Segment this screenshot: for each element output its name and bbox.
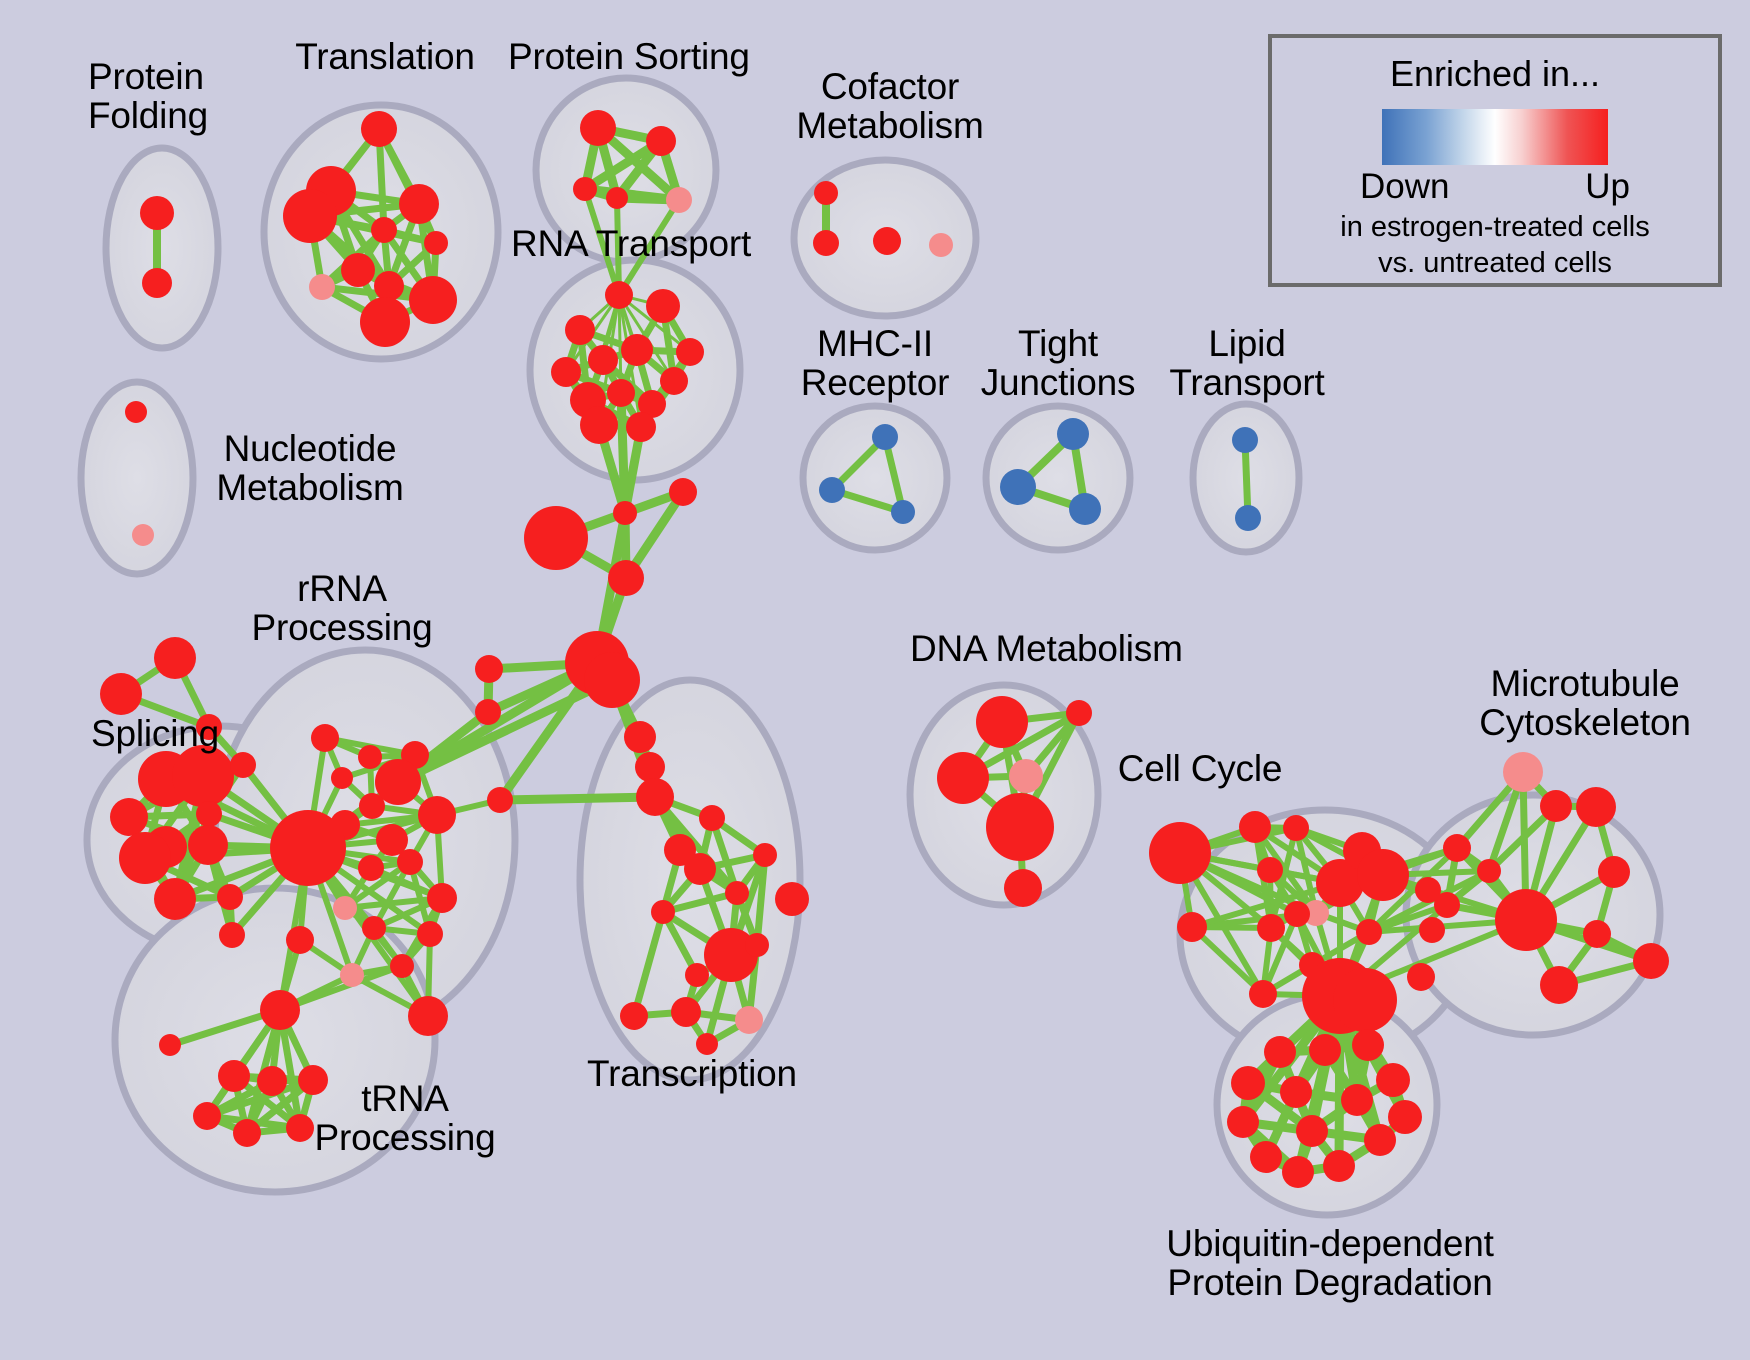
node — [1000, 469, 1036, 505]
node — [669, 478, 697, 506]
node — [1388, 1100, 1422, 1134]
node — [1419, 917, 1445, 943]
node — [646, 289, 680, 323]
node — [311, 724, 339, 752]
node — [1434, 892, 1460, 918]
cluster-label-mhc-ii-receptor: MHC-II Receptor — [790, 325, 960, 403]
node — [580, 110, 616, 146]
node — [309, 274, 335, 300]
node — [1177, 912, 1207, 942]
node — [671, 997, 701, 1027]
node — [725, 881, 749, 905]
node — [1249, 980, 1277, 1008]
cluster-label-protein-folding: Protein Folding — [88, 58, 248, 136]
node — [606, 187, 628, 209]
node — [154, 637, 196, 679]
cluster-label-splicing: Splicing — [60, 715, 250, 754]
node — [270, 810, 346, 886]
node — [1407, 963, 1435, 991]
node — [1477, 859, 1501, 883]
node — [651, 900, 675, 924]
node — [1296, 1115, 1328, 1147]
node — [1309, 1034, 1341, 1066]
node — [188, 825, 228, 865]
node — [341, 253, 375, 287]
node — [390, 954, 414, 978]
node — [605, 281, 633, 309]
node — [172, 745, 234, 807]
node — [360, 297, 410, 347]
enrichment-map-figure: Protein Folding Translation Protein Sort… — [0, 0, 1750, 1360]
node — [819, 477, 845, 503]
node — [427, 883, 457, 913]
node — [696, 1033, 718, 1055]
node — [1257, 914, 1285, 942]
node — [1009, 759, 1043, 793]
node — [873, 227, 901, 255]
node — [1057, 418, 1089, 450]
node — [371, 217, 397, 243]
node — [1576, 787, 1616, 827]
cluster-label-rrna-processing: rRNA Processing — [242, 570, 442, 648]
node — [230, 752, 256, 778]
node — [1633, 943, 1669, 979]
node — [624, 721, 656, 753]
legend-caption-line2: vs. untreated cells — [1272, 247, 1718, 279]
node — [635, 752, 665, 782]
legend-title: Enriched in... — [1272, 53, 1718, 95]
node — [361, 111, 397, 147]
node — [218, 1060, 250, 1092]
node — [685, 963, 709, 987]
node — [565, 315, 595, 345]
cluster-label-nucleotide-metabolism: Nucleotide Metabolism — [200, 430, 420, 508]
node — [1282, 1156, 1314, 1188]
node — [125, 401, 147, 423]
node — [1443, 834, 1471, 862]
node — [219, 922, 245, 948]
node — [524, 506, 588, 570]
node — [1583, 920, 1611, 948]
node — [409, 276, 457, 324]
node — [408, 996, 448, 1036]
cluster-label-rna-transport: RNA Transport — [511, 225, 751, 264]
node — [1257, 857, 1283, 883]
node — [814, 181, 838, 205]
node — [154, 878, 196, 920]
node — [607, 379, 635, 407]
node — [620, 1002, 648, 1030]
node — [475, 699, 501, 725]
node — [1235, 505, 1261, 531]
node — [1284, 901, 1310, 927]
legend-low-label: Down — [1360, 167, 1449, 207]
node — [217, 884, 243, 910]
node — [745, 933, 769, 957]
node — [1066, 700, 1092, 726]
node — [1341, 1084, 1373, 1116]
node — [1250, 1141, 1282, 1173]
node — [1264, 1036, 1296, 1068]
node — [646, 126, 676, 156]
node — [362, 916, 386, 940]
node — [196, 801, 222, 827]
legend-colorbar — [1382, 109, 1608, 165]
node — [1280, 1076, 1312, 1108]
node — [257, 1066, 287, 1096]
node — [142, 268, 172, 298]
node — [891, 500, 915, 524]
cluster-label-trna-processing: tRNA Processing — [305, 1080, 505, 1158]
cluster-label-transcription: Transcription — [577, 1055, 807, 1094]
node — [1598, 856, 1630, 888]
node — [119, 832, 171, 884]
node — [132, 524, 154, 546]
node — [1495, 889, 1557, 951]
node — [260, 990, 300, 1030]
node — [1283, 815, 1309, 841]
node — [608, 560, 644, 596]
node — [283, 189, 337, 243]
node — [1333, 968, 1397, 1032]
node — [397, 849, 423, 875]
cluster-label-tight-junctions: Tight Junctions — [973, 325, 1143, 403]
cluster-label-cell-cycle: Cell Cycle — [1110, 750, 1290, 789]
node — [986, 793, 1054, 861]
node — [417, 921, 443, 947]
node — [358, 855, 384, 881]
legend-caption-line1: in estrogen-treated cells — [1272, 211, 1718, 243]
node — [1227, 1106, 1259, 1138]
hull-mhc-ii-receptor — [803, 406, 947, 550]
node — [193, 1102, 221, 1130]
node — [588, 345, 618, 375]
cluster-label-ubiquitin-protein-degradation: Ubiquitin-dependent Protein Degradation — [1120, 1225, 1540, 1303]
node — [100, 673, 142, 715]
node — [424, 231, 448, 255]
node — [666, 187, 692, 213]
node — [110, 798, 148, 836]
cluster-label-protein-sorting: Protein Sorting — [508, 38, 748, 77]
node — [399, 184, 439, 224]
node — [573, 177, 597, 201]
node — [159, 1034, 181, 1056]
node — [140, 196, 174, 230]
node — [551, 357, 581, 387]
node — [418, 796, 456, 834]
node — [374, 271, 404, 301]
node — [937, 752, 989, 804]
node — [872, 424, 898, 450]
node — [1239, 811, 1271, 843]
node — [735, 1006, 763, 1034]
node — [753, 843, 777, 867]
node — [286, 926, 314, 954]
node — [1540, 966, 1578, 1004]
legend-panel: Enriched in... Down Up in estrogen-treat… — [1268, 34, 1722, 287]
node — [929, 233, 953, 257]
node — [813, 230, 839, 256]
node — [487, 787, 513, 813]
node — [1356, 919, 1382, 945]
cluster-label-cofactor-metabolism: Cofactor Metabolism — [775, 68, 1005, 146]
node — [1232, 427, 1258, 453]
node — [584, 652, 640, 708]
node — [775, 882, 809, 916]
node — [976, 696, 1028, 748]
node — [676, 338, 704, 366]
legend-high-label: Up — [1585, 167, 1630, 207]
node — [1352, 1029, 1384, 1061]
node — [331, 767, 353, 789]
node — [699, 805, 725, 831]
hull-protein-folding — [106, 148, 218, 348]
node — [660, 367, 688, 395]
node — [375, 759, 421, 805]
cluster-label-translation: Translation — [270, 38, 500, 77]
node — [1069, 493, 1101, 525]
node — [333, 896, 357, 920]
cluster-label-lipid-transport: Lipid Transport — [1157, 325, 1337, 403]
node — [1540, 790, 1572, 822]
node — [1364, 1124, 1396, 1156]
node — [1149, 822, 1211, 884]
node — [1503, 752, 1543, 792]
node — [1323, 1150, 1355, 1182]
node — [1231, 1066, 1265, 1100]
node — [684, 853, 716, 885]
cluster-label-dna-metabolism: DNA Metabolism — [910, 630, 1180, 669]
node — [1004, 869, 1042, 907]
node — [636, 778, 674, 816]
node — [340, 963, 364, 987]
node — [233, 1119, 261, 1147]
node — [1357, 849, 1409, 901]
cluster-label-microtubule-cytoskeleton: Microtubule Cytoskeleton — [1440, 665, 1730, 743]
node — [613, 501, 637, 525]
node — [475, 655, 503, 683]
node — [1376, 1063, 1410, 1097]
node — [626, 412, 656, 442]
node — [621, 334, 653, 366]
node — [358, 745, 382, 769]
node — [580, 406, 618, 444]
